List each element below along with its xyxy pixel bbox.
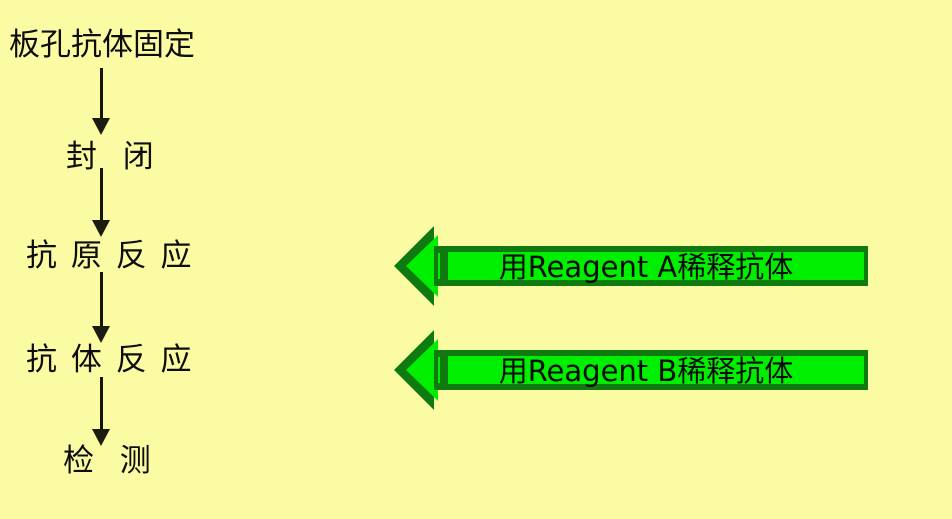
connector-shaft xyxy=(100,377,103,431)
down-arrow-icon xyxy=(92,220,110,237)
diagram-canvas: 板孔抗体固定 封 闭 抗 原 反 应 抗 体 反 应 检 测 xyxy=(0,0,952,519)
flow-node-3: 抗 原 反 应 xyxy=(26,241,194,272)
flow-node-4: 抗 体 反 应 xyxy=(26,345,194,376)
flow-connector-1 xyxy=(99,68,104,136)
flow-connector-2 xyxy=(99,168,104,238)
down-arrow-icon xyxy=(92,326,110,343)
connector-shaft xyxy=(100,168,103,222)
flow-node-5: 检 测 xyxy=(63,446,153,477)
callout-arrow-reagent-b: 用Reagent B稀释抗体 xyxy=(338,322,868,418)
flow-connector-3 xyxy=(99,272,104,344)
flow-node-2: 封 闭 xyxy=(66,142,156,173)
flow-connector-4 xyxy=(99,377,104,447)
down-arrow-icon xyxy=(92,118,110,135)
connector-shaft xyxy=(100,68,103,120)
callout-label: 用Reagent B稀释抗体 xyxy=(434,322,858,418)
flow-node-1: 板孔抗体固定 xyxy=(9,30,195,61)
connector-shaft xyxy=(100,272,103,328)
callout-label: 用Reagent A稀释抗体 xyxy=(434,218,858,314)
flow-chart: 板孔抗体固定 封 闭 抗 原 反 应 抗 体 反 应 检 测 xyxy=(0,0,230,519)
callout-arrow-reagent-a: 用Reagent A稀释抗体 xyxy=(338,218,868,314)
